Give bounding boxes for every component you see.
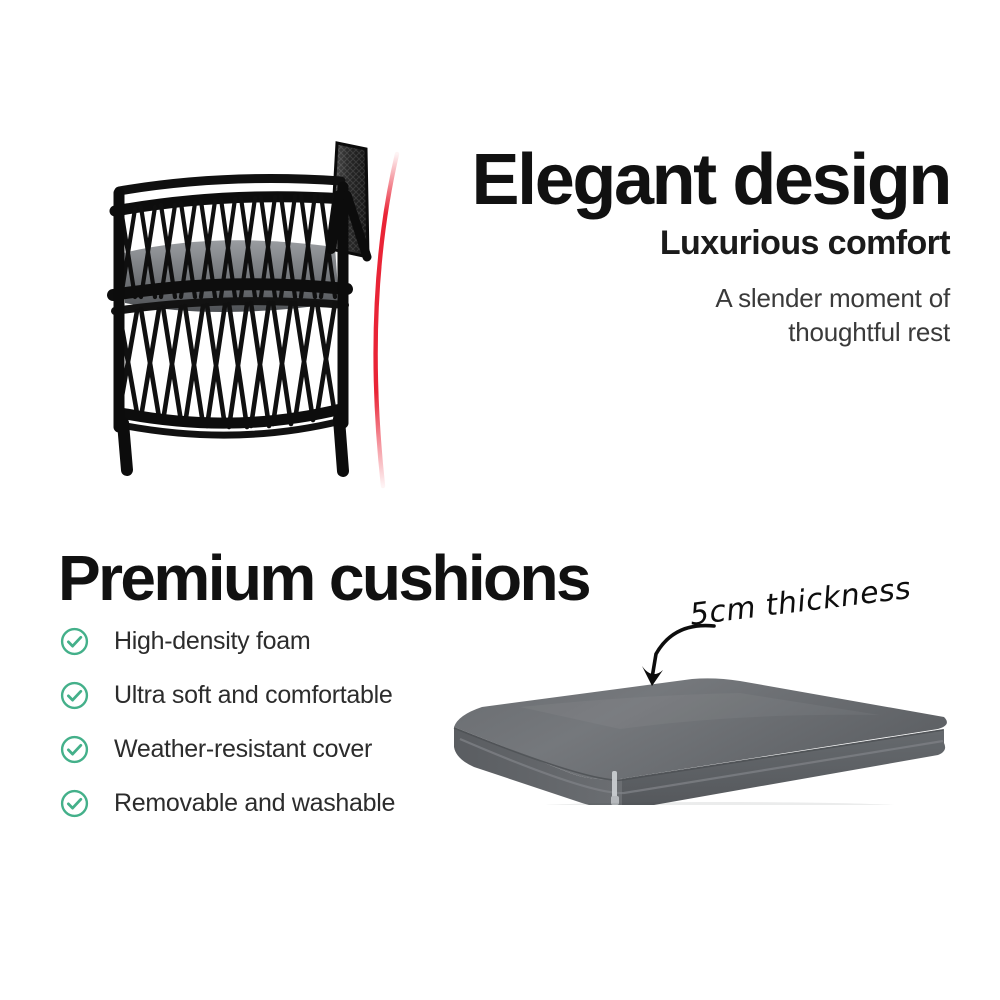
feature-label: Removable and washable (114, 789, 395, 818)
tagline-line-2: thoughtful rest (430, 315, 950, 349)
chair-lower-lattice (119, 303, 335, 427)
feature-label: Weather-resistant cover (114, 735, 372, 764)
feature-label: Ultra soft and comfortable (114, 681, 392, 710)
cushion-product-image (440, 655, 960, 805)
top-text-block: Elegant design Luxurious comfort A slend… (430, 145, 950, 349)
tagline: A slender moment of thoughtful rest (430, 281, 950, 350)
list-item: Ultra soft and comfortable (60, 668, 480, 722)
infographic-canvas: Elegant design Luxurious comfort A slend… (0, 0, 1000, 1000)
feature-label: High-density foam (114, 627, 310, 656)
annotation-5cm-thickness: 5cm thickness (688, 571, 913, 633)
check-circle-icon (60, 627, 89, 656)
check-circle-icon (60, 789, 89, 818)
chair-product-image (95, 135, 425, 495)
list-item: Removable and washable (60, 776, 480, 830)
list-item: High-density foam (60, 614, 480, 668)
check-circle-icon (60, 681, 89, 710)
heading-premium-cushions: Premium cushions (58, 546, 589, 610)
headline-elegant-design: Elegant design (430, 145, 950, 216)
feature-list: High-density foam Ultra soft and comfort… (60, 614, 480, 830)
list-item: Weather-resistant cover (60, 722, 480, 776)
tagline-line-1: A slender moment of (430, 281, 950, 315)
subheadline-luxurious-comfort: Luxurious comfort (430, 224, 950, 263)
check-circle-icon (60, 735, 89, 764)
